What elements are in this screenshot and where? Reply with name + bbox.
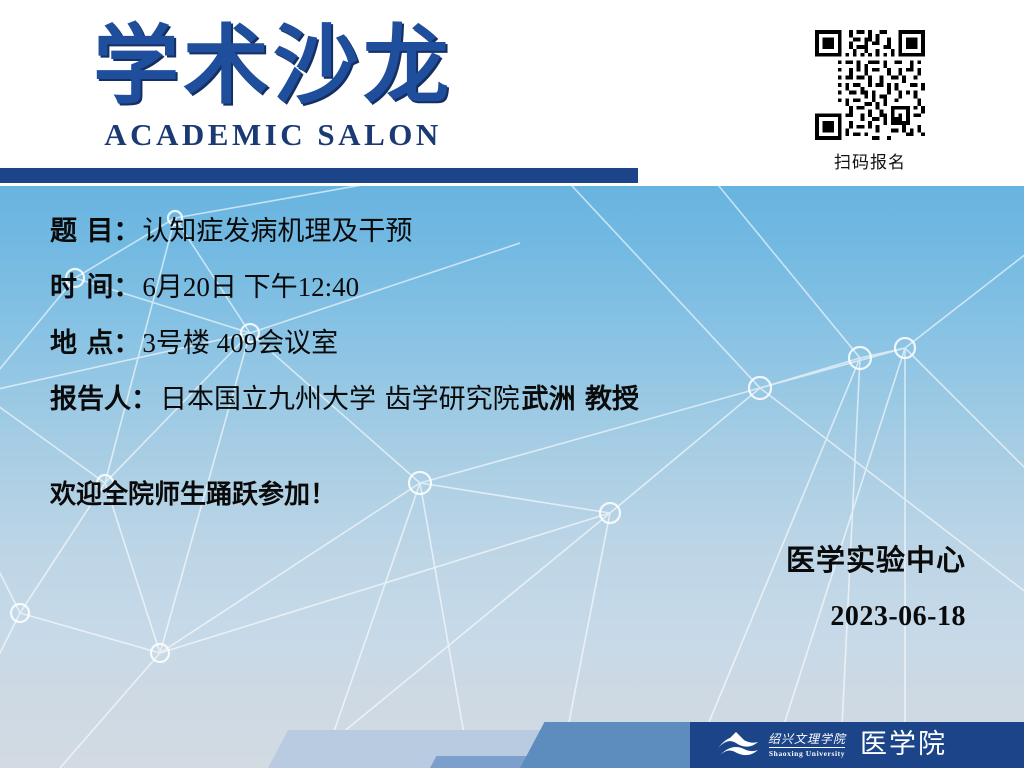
info-value-speaker-affiliation: 日本国立九州大学 齿学研究院 [160,382,520,418]
signature-block: 医学实验中心 2023-06-18 [786,540,966,634]
info-value-location: 3号楼 409会议室 [142,325,338,361]
info-value-speaker-name: 武洲 教授 [522,384,639,415]
info-line-location: 地 点： 3号楼 409会议室 [50,325,639,362]
info-line-time: 时 间： 6月20日 下午12:40 [50,269,639,306]
welcome-message: 欢迎全院师生踊跃参加！ [50,478,336,512]
qr-registration-block: 扫码报名 [812,30,928,173]
signature-organization: 医学实验中心 [786,540,966,580]
wave-mountain-emblem-icon [716,730,760,760]
qr-code-icon[interactable] [815,30,925,140]
salon-logo: 学术沙龙 ACADEMIC SALON [78,18,468,154]
info-value-time: 6月20日 下午12:40 [142,269,359,305]
salon-logo-en: ACADEMIC SALON [78,116,468,154]
signature-date: 2023-06-18 [786,600,966,634]
qr-caption: 扫码报名 [812,148,928,173]
info-label-time: 时 间： [50,270,140,306]
info-line-topic: 题 目： 认知症发病机理及干预 [50,214,639,250]
header-divider-bar [0,168,638,183]
info-label-location: 地 点： [50,326,140,362]
university-name-block: 绍兴文理学院 Shaoxing University [768,732,846,759]
academic-salon-poster: 绍兴文理学院 Shaoxing University 医学院 学术沙龙 ACAD… [0,0,1024,768]
info-label-topic: 题 目： [50,214,140,250]
college-name: 医学院 [860,730,947,760]
info-value-topic: 认知症发病机理及干预 [142,214,412,250]
salon-logo-cn: 学术沙龙 [78,18,468,114]
info-line-speaker: 报告人： 日本国立九州大学 齿学研究院 武洲 教授 [50,381,639,418]
university-name-en: Shaoxing University [769,747,845,759]
event-info-block: 题 目： 认知症发病机理及干预 时 间： 6月20日 下午12:40 地 点： … [50,214,639,437]
university-name-cn: 绍兴文理学院 [768,732,846,746]
footer-logo-bar: 绍兴文理学院 Shaoxing University 医学院 [690,722,1024,768]
info-label-speaker: 报告人： [50,382,158,418]
